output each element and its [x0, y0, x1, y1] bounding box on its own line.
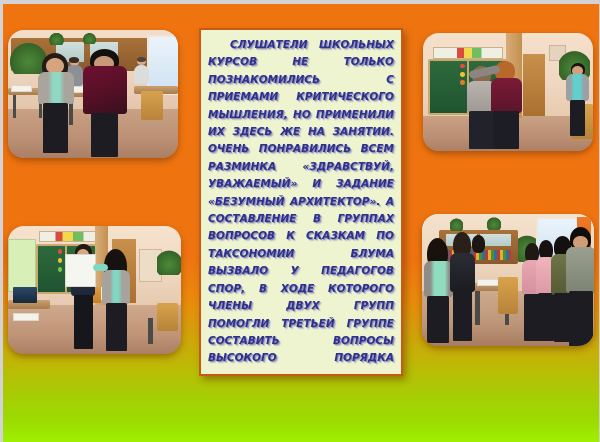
desk-leg: [13, 95, 16, 118]
torso: [134, 65, 150, 84]
desk-leg: [148, 318, 153, 344]
person-row-right-front: [566, 227, 594, 346]
chair: [498, 277, 519, 314]
photo-bottom-left-content: [8, 226, 181, 354]
wall-banner: [433, 47, 503, 58]
person-foreground-right: [83, 49, 127, 157]
legs: [43, 103, 68, 153]
slide-frame-left: [0, 0, 3, 442]
photo-top-left-content: [8, 30, 178, 158]
photo-bottom-left[interactable]: [8, 226, 181, 354]
pointing-arm: [93, 264, 109, 270]
torso: [38, 72, 74, 104]
legs: [570, 100, 585, 136]
plant: [157, 249, 181, 275]
classroom-scene: [8, 30, 178, 158]
legs: [493, 111, 519, 149]
classroom-scene: [422, 214, 594, 346]
text-card[interactable]: СЛУШАТЕЛИ ШКОЛЬНЫХ КУРСОВ НЕ ТОЛЬКО ПОЗН…: [199, 28, 403, 376]
flipchart: [8, 239, 36, 292]
person-observer: [566, 63, 590, 136]
legs: [74, 295, 93, 349]
door: [523, 54, 545, 115]
classroom-scene: [8, 226, 181, 354]
torso: [566, 247, 594, 292]
chair: [157, 303, 178, 331]
plant: [83, 33, 97, 45]
paper: [13, 313, 39, 321]
person-row-left: [468, 235, 489, 314]
legs: [569, 291, 592, 346]
photo-top-left[interactable]: [8, 30, 178, 158]
text-card-body: СЛУШАТЕЛИ ШКОЛЬНЫХ КУРСОВ НЕ ТОЛЬКО ПОЗН…: [208, 37, 394, 385]
laptop: [13, 287, 37, 302]
legs: [106, 303, 127, 351]
paper: [11, 85, 32, 92]
person-background: [132, 58, 151, 99]
plant: [450, 218, 464, 231]
torso: [468, 250, 489, 283]
presentation-slide: СЛУШАТЕЛИ ШКОЛЬНЫХ КУРСОВ НЕ ТОЛЬКО ПОЗН…: [0, 0, 600, 442]
chalkboard: [36, 244, 68, 294]
torso: [566, 74, 589, 100]
photo-top-right[interactable]: [423, 33, 593, 151]
wall-banner: [39, 231, 100, 242]
plant: [49, 33, 64, 46]
person-hug-right: [491, 61, 522, 148]
photo-bottom-right-content: [422, 214, 594, 346]
person-foreground-left: [37, 53, 74, 153]
torso: [491, 78, 522, 113]
photo-top-right-content: [423, 33, 593, 151]
classroom-scene: [423, 33, 593, 151]
hair: [137, 57, 146, 62]
photo-bottom-right[interactable]: [422, 214, 594, 346]
torso: [102, 270, 130, 305]
legs: [427, 296, 449, 344]
held-paper: [65, 254, 96, 287]
torso: [83, 66, 127, 113]
legs: [91, 113, 118, 157]
slide-frame-top: [0, 0, 600, 4]
plant: [487, 217, 501, 230]
